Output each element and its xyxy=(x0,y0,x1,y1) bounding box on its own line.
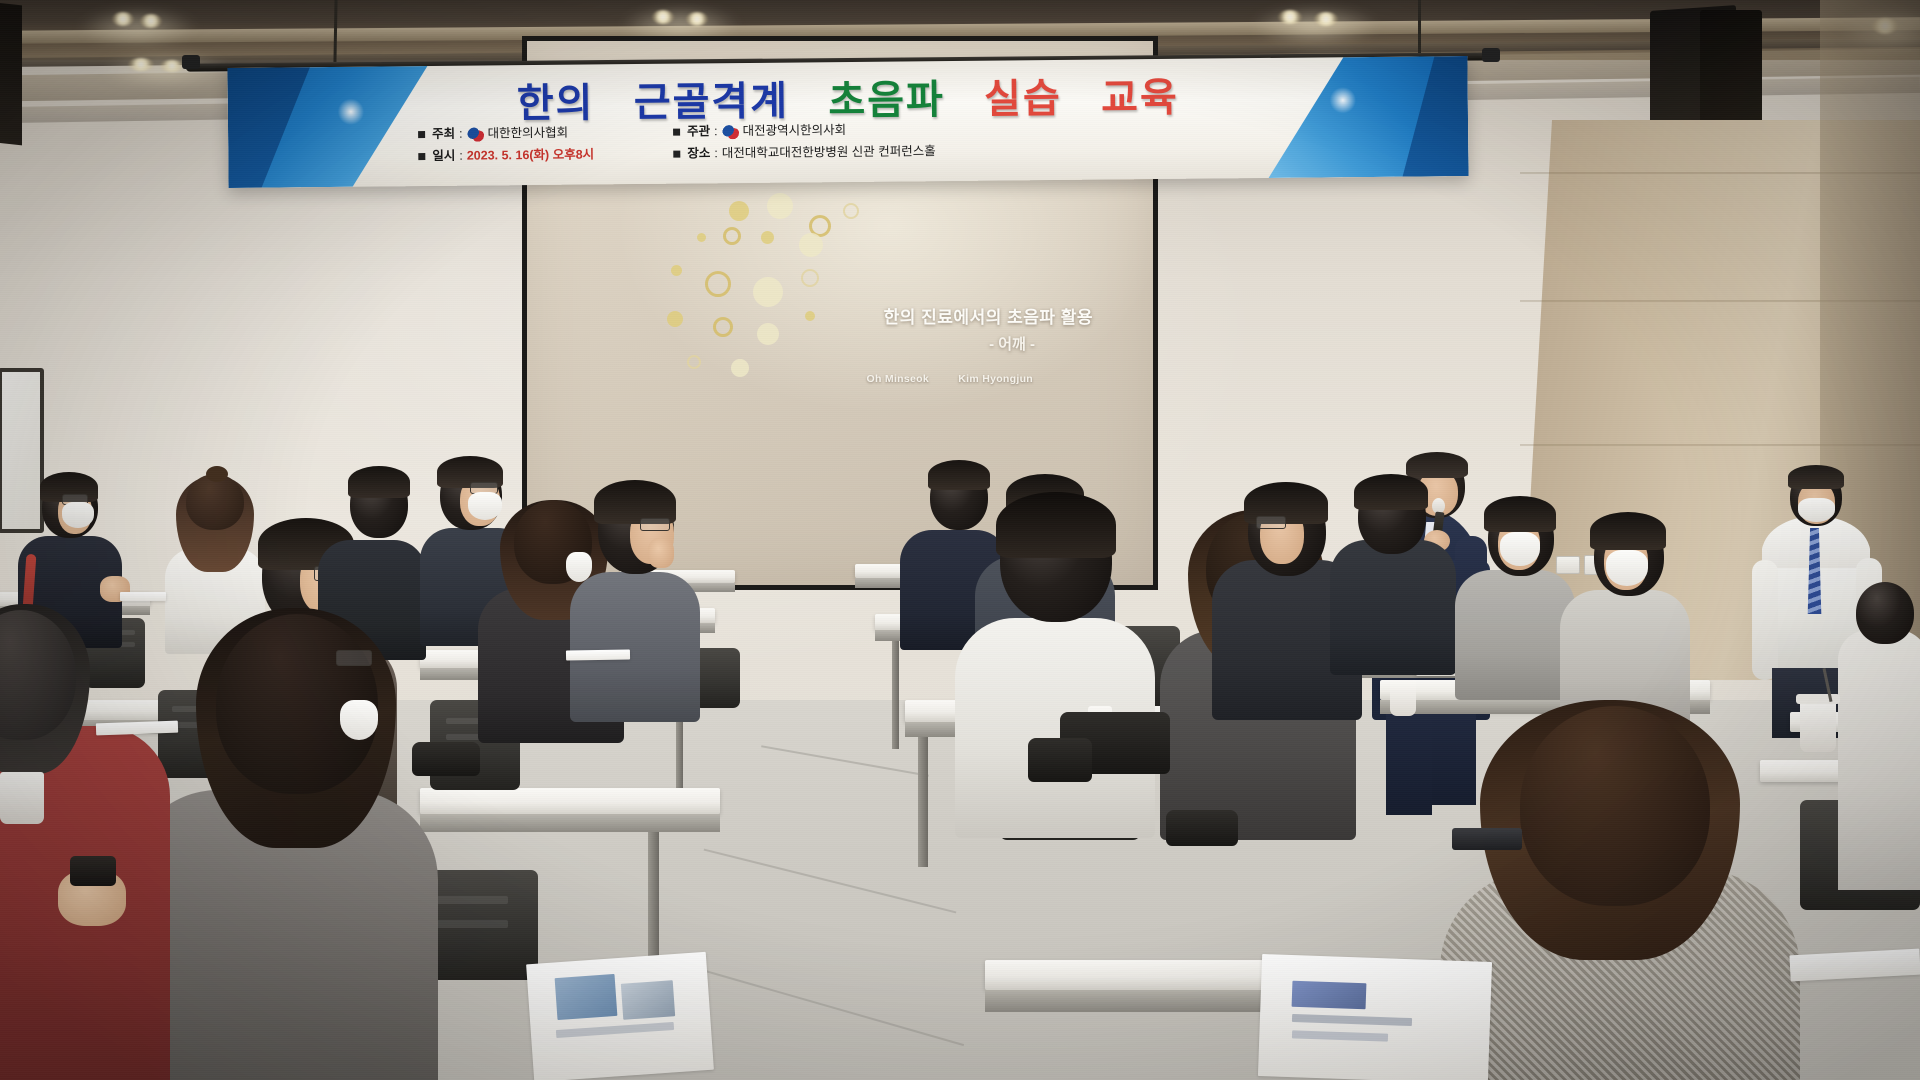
ceiling-speaker-icon xyxy=(0,3,22,146)
banner-info-block: 주최 : 대한한의사협회 주관 : 대전광역시한의사회 일시 : xyxy=(418,116,1298,168)
banner-host-value: 대한한의사협회 xyxy=(487,123,568,146)
banner-date-label: 일시 xyxy=(432,146,455,168)
audience-hair xyxy=(348,466,410,498)
audience-hair xyxy=(928,460,990,490)
staff-arm-left xyxy=(1752,560,1778,680)
ceiling-light-glow xyxy=(1250,6,1380,46)
audience-head xyxy=(1856,582,1914,644)
slide-title: 한의 진료에서의 초음파 활용 xyxy=(527,303,1093,328)
slide-author-2: Kim Hyongjun xyxy=(958,373,1033,385)
banner-venue-value: 대전대학교대전한방병원 신관 컨퍼런스홀 xyxy=(722,141,936,165)
face-mask xyxy=(1798,498,1835,522)
drink-cup xyxy=(1800,700,1836,752)
banner-title-part-4: 실습 xyxy=(984,77,1062,122)
bullet-square-icon xyxy=(418,131,425,138)
drink-cup xyxy=(0,772,44,824)
shoulder-bag xyxy=(1166,810,1238,846)
banner-title-part-1: 한의 xyxy=(517,81,595,126)
ceiling-light xyxy=(160,60,184,72)
smartphone xyxy=(1452,828,1522,850)
whiteboard xyxy=(0,368,44,533)
face-mask xyxy=(468,492,502,520)
bullet-square-icon xyxy=(673,129,680,136)
audience-torso xyxy=(1330,540,1456,675)
desk xyxy=(420,788,720,814)
ceiling-light xyxy=(128,58,154,71)
open-handout-booklet xyxy=(526,952,714,1080)
audience-hand xyxy=(648,538,674,568)
bullet-square-icon xyxy=(418,153,425,160)
bullet-square-icon xyxy=(673,151,680,158)
shoulder-bag xyxy=(1028,738,1092,782)
banner-organizer-sep: : xyxy=(714,121,718,143)
eyeglasses-icon xyxy=(1256,516,1286,529)
audience-torso xyxy=(570,572,700,722)
ceiling-light xyxy=(652,10,674,24)
audience-hair xyxy=(1590,512,1666,550)
face-mask xyxy=(1500,532,1540,566)
handout-figure xyxy=(1292,981,1367,1010)
banner-organizer-label: 주관 xyxy=(687,121,710,143)
banner-title-part-5: 교육 xyxy=(1101,76,1179,121)
kma-logo-icon xyxy=(466,127,485,141)
ceiling-light xyxy=(1278,10,1302,24)
banner-hanging-string xyxy=(1418,0,1421,54)
shoulder-bag xyxy=(412,742,480,776)
banner-date-sep: : xyxy=(459,146,463,168)
audience-head xyxy=(186,474,244,530)
handout-paper xyxy=(120,592,166,601)
slide-bubble-decoration xyxy=(657,191,957,391)
banner-title-part-2: 근골격계 xyxy=(634,80,790,125)
sparkle-icon xyxy=(1328,85,1358,115)
banner-rod-cap xyxy=(1482,48,1500,62)
chair xyxy=(694,648,740,708)
banner-title-part-3: 초음파 xyxy=(828,78,945,123)
banner-venue-cell: 장소 : 대전대학교대전한방병원 신관 컨퍼런스홀 xyxy=(673,140,1053,166)
audience-torso xyxy=(1838,630,1920,890)
staff-hair xyxy=(1788,465,1844,489)
dja-logo-icon xyxy=(721,125,740,139)
banner-rod-cap xyxy=(182,55,200,69)
slide-author-1: Oh Minseok xyxy=(867,373,930,385)
ceiling-light xyxy=(140,14,162,28)
audience-head xyxy=(1520,706,1710,906)
slide-subtitle: - 어깨 - xyxy=(527,333,1035,354)
banner-organizer-value: 대전광역시한의사회 xyxy=(742,120,846,143)
cup-lid xyxy=(1796,694,1840,704)
banner-venue-sep: : xyxy=(714,143,718,165)
seminar-hall-photo: 한의 진료에서의 초음파 활용 - 어깨 - Oh Minseok Kim Hy… xyxy=(0,0,1920,1080)
face-mask xyxy=(340,700,378,740)
presenter-leg-right xyxy=(1432,700,1476,805)
audience-hair xyxy=(996,492,1116,558)
ceiling-light-glow xyxy=(78,8,198,48)
audience-torso xyxy=(1455,570,1575,700)
desk-leg xyxy=(918,737,928,867)
audience-hair xyxy=(1484,496,1556,532)
face-mask xyxy=(62,502,94,528)
banner-venue-label: 장소 xyxy=(687,143,710,165)
banner-host-label: 주최 xyxy=(432,124,455,146)
handout-paper xyxy=(566,649,630,660)
sparkle-icon xyxy=(336,97,366,127)
eyeglasses-icon xyxy=(640,518,670,531)
ceiling-light xyxy=(1314,12,1338,26)
hair-tie xyxy=(206,466,228,482)
ceiling-light xyxy=(112,12,134,26)
event-banner: 한의 근골격계 초음파 실습 교육 주최 : 대한한의사협회 xyxy=(227,56,1468,188)
banner-host-cell: 주최 : 대한한의사협회 xyxy=(418,122,673,146)
handout-figure xyxy=(621,980,675,1020)
drink-cup xyxy=(1390,680,1416,716)
eyeglasses-icon xyxy=(336,650,372,666)
handout-figure xyxy=(555,974,618,1020)
face-mask xyxy=(1606,550,1648,586)
presenter-hair xyxy=(1406,452,1468,478)
ceiling-light xyxy=(686,12,708,26)
wall-outlet xyxy=(1556,556,1580,574)
presenter-leg-left xyxy=(1386,700,1432,815)
slide-authors: Oh Minseok Kim Hyongjun xyxy=(527,373,1033,385)
banner-date-value: 2023. 5. 16(화) 오후8시 xyxy=(467,144,595,167)
wristwatch-icon xyxy=(70,856,116,886)
banner-date-cell: 일시 : 2023. 5. 16(화) 오후8시 xyxy=(418,144,673,168)
desk-edge xyxy=(420,814,720,832)
desk-leg xyxy=(892,641,899,749)
banner-host-sep: : xyxy=(459,124,463,146)
audience-hair xyxy=(1354,474,1428,510)
